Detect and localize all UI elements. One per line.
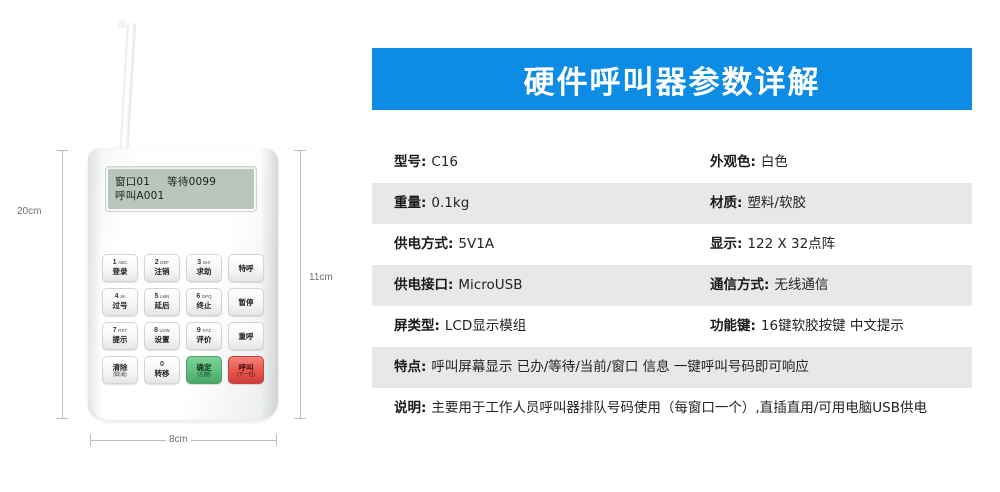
depth-dimension-tick-bottom bbox=[294, 418, 306, 419]
spec-cell: 外观色:白色 bbox=[702, 153, 972, 172]
spec-table: 型号:C16外观色:白色重量:0.1kg材质:塑料/软胶供电方式:5V1A显示:… bbox=[372, 142, 972, 429]
spec-label: 供电接口: bbox=[394, 276, 453, 295]
spec-value: 5V1A bbox=[458, 235, 494, 254]
spec-cell: 供电方式:5V1A bbox=[372, 235, 702, 254]
spec-cell: 显示:122 X 32点阵 bbox=[702, 235, 972, 254]
device-left-shading bbox=[88, 148, 102, 420]
spec-value: 无线通信 bbox=[774, 276, 828, 295]
spec-cell: 通信方式:无线通信 bbox=[702, 276, 972, 295]
spec-value: 呼叫屏幕显示 已办/等待/当前/窗口 信息 一键呼叫号码即可响应 bbox=[431, 358, 809, 377]
spec-cell: 型号:C16 bbox=[372, 153, 702, 172]
key-sub-label: (下一位) bbox=[237, 372, 255, 378]
lcd-waiting-label: 等待0099 bbox=[167, 176, 216, 188]
spec-label: 屏类型: bbox=[394, 317, 440, 336]
lcd-bezel: 窗口01等待0099 呼叫A001 bbox=[105, 166, 257, 212]
spec-value: 0.1kg bbox=[431, 194, 469, 213]
key-main-label: 注销 bbox=[155, 267, 170, 276]
height-dimension-tick-top bbox=[56, 150, 68, 151]
spec-cell: 功能键:16键软胶按键 中文提示 bbox=[702, 317, 972, 336]
spec-cell: 屏类型:LCD显示模组 bbox=[372, 317, 702, 336]
spec-value: 白色 bbox=[761, 153, 788, 172]
key-main-label: 提示 bbox=[113, 335, 128, 344]
key-暂停-7[interactable]: 暂停 bbox=[228, 288, 264, 316]
spec-cell: 说明:主要用于工作人员呼叫器排队号码使用（每窗口一个）,直插直用/可用电脑USB… bbox=[372, 399, 972, 418]
spec-value: 16键软胶按键 中文提示 bbox=[761, 317, 904, 336]
spec-label: 外观色: bbox=[710, 153, 756, 172]
key-main-label: 呼叫 bbox=[239, 363, 254, 372]
key-main-label: 确定 bbox=[197, 363, 212, 372]
spec-label: 功能键: bbox=[710, 317, 756, 336]
spec-value: 122 X 32点阵 bbox=[747, 235, 835, 254]
spec-cell: 重量:0.1kg bbox=[372, 194, 702, 213]
lcd-line-1: 窗口01等待0099 bbox=[115, 175, 247, 189]
keypad: 1 ABC登录2 DEF注销3 GHI求助特呼4 JK过号5 LMN延后6 OP… bbox=[102, 254, 264, 384]
spec-cell: 特点:呼叫屏幕显示 已办/等待/当前/窗口 信息 一键呼叫号码即可响应 bbox=[372, 358, 972, 377]
key-终止-6[interactable]: 6 OPQ终止 bbox=[186, 288, 222, 316]
key-确定-14[interactable]: 确定(左翻) bbox=[186, 356, 222, 384]
spec-pane: 硬件呼叫器参数详解 型号:C16外观色:白色重量:0.1kg材质:塑料/软胶供电… bbox=[372, 0, 972, 492]
lcd-screen: 窗口01等待0099 呼叫A001 bbox=[108, 169, 254, 209]
key-sub-label: (取消) bbox=[113, 372, 126, 378]
key-main-label: 过号 bbox=[113, 301, 128, 310]
spec-banner-title: 硬件呼叫器参数详解 bbox=[524, 57, 821, 102]
spec-value: 塑料/软胶 bbox=[747, 194, 806, 213]
spec-value: LCD显示模组 bbox=[445, 317, 526, 336]
key-重呼-11[interactable]: 重呼 bbox=[228, 322, 264, 350]
spec-label: 特点: bbox=[394, 358, 426, 377]
height-dimension-label: 20cm bbox=[14, 206, 44, 217]
key-注销-1[interactable]: 2 DEF注销 bbox=[144, 254, 180, 282]
key-main-label: 延后 bbox=[155, 301, 170, 310]
spec-value: 主要用于工作人员呼叫器排队号码使用（每窗口一个）,直插直用/可用电脑USB供电 bbox=[431, 399, 927, 418]
spec-value: C16 bbox=[431, 153, 458, 172]
height-dimension-tick-bottom bbox=[56, 418, 68, 419]
spec-row: 供电方式:5V1A显示:122 X 32点阵 bbox=[372, 224, 972, 265]
depth-dimension-line bbox=[300, 150, 301, 418]
spec-cell: 供电接口:MicroUSB bbox=[372, 276, 702, 295]
key-main-label: 清除 bbox=[113, 363, 128, 372]
spec-row: 特点:呼叫屏幕显示 已办/等待/当前/窗口 信息 一键呼叫号码即可响应 bbox=[372, 347, 972, 388]
key-转移-13[interactable]: 0转移 bbox=[144, 356, 180, 384]
spec-label: 型号: bbox=[394, 153, 426, 172]
depth-dimension-tick-top bbox=[294, 150, 306, 151]
spec-label: 显示: bbox=[710, 235, 742, 254]
key-main-label: 转移 bbox=[155, 369, 170, 378]
spec-label: 通信方式: bbox=[710, 276, 769, 295]
spec-label: 材质: bbox=[710, 194, 742, 213]
key-main-label: 设置 bbox=[155, 335, 170, 344]
depth-dimension-label: 11cm bbox=[306, 272, 336, 283]
key-过号-4[interactable]: 4 JK过号 bbox=[102, 288, 138, 316]
key-特呼-3[interactable]: 特呼 bbox=[228, 254, 264, 282]
key-main-label: 终止 bbox=[197, 301, 212, 310]
key-延后-5[interactable]: 5 LMN延后 bbox=[144, 288, 180, 316]
spec-label: 重量: bbox=[394, 194, 426, 213]
key-main-label: 登录 bbox=[113, 267, 128, 276]
key-求助-2[interactable]: 3 GHI求助 bbox=[186, 254, 222, 282]
width-dimension-tick-right bbox=[276, 434, 277, 446]
key-main-label: 暂停 bbox=[239, 298, 254, 307]
lcd-window-label: 窗口01 bbox=[115, 176, 150, 188]
spec-row: 供电接口:MicroUSB通信方式:无线通信 bbox=[372, 265, 972, 306]
product-image-pane: 窗口01等待0099 呼叫A001 1 ABC登录2 DEF注销3 GHI求助特… bbox=[0, 0, 355, 492]
key-设置-9[interactable]: 8 UVW设置 bbox=[144, 322, 180, 350]
spec-row: 说明:主要用于工作人员呼叫器排队号码使用（每窗口一个）,直插直用/可用电脑USB… bbox=[372, 388, 972, 429]
lcd-line-2: 呼叫A001 bbox=[115, 189, 247, 203]
spec-banner: 硬件呼叫器参数详解 bbox=[372, 48, 972, 110]
spec-label: 供电方式: bbox=[394, 235, 453, 254]
key-登录-0[interactable]: 1 ABC登录 bbox=[102, 254, 138, 282]
key-评价-10[interactable]: 9 XYZ评价 bbox=[186, 322, 222, 350]
key-main-label: 评价 bbox=[197, 335, 212, 344]
key-main-label: 求助 bbox=[197, 267, 212, 276]
caller-device: 窗口01等待0099 呼叫A001 1 ABC登录2 DEF注销3 GHI求助特… bbox=[88, 148, 278, 420]
product-spec-page: 窗口01等待0099 呼叫A001 1 ABC登录2 DEF注销3 GHI求助特… bbox=[0, 0, 1000, 492]
key-main-label: 特呼 bbox=[239, 264, 254, 273]
key-呼叫-15[interactable]: 呼叫(下一位) bbox=[228, 356, 264, 384]
height-dimension-line bbox=[62, 150, 63, 418]
key-main-label: 重呼 bbox=[239, 332, 254, 341]
spec-value: MicroUSB bbox=[458, 276, 522, 295]
key-清除-12[interactable]: 清除(取消) bbox=[102, 356, 138, 384]
width-dimension-label: 8cm bbox=[166, 434, 191, 445]
spec-row: 型号:C16外观色:白色 bbox=[372, 142, 972, 183]
spec-cell: 材质:塑料/软胶 bbox=[702, 194, 972, 213]
spec-row: 重量:0.1kg材质:塑料/软胶 bbox=[372, 183, 972, 224]
spec-label: 说明: bbox=[394, 399, 426, 418]
spec-row: 屏类型:LCD显示模组功能键:16键软胶按键 中文提示 bbox=[372, 306, 972, 347]
key-sub-label: (左翻) bbox=[197, 372, 210, 378]
key-提示-8[interactable]: 7 RST提示 bbox=[102, 322, 138, 350]
width-dimension-tick-left bbox=[90, 434, 91, 446]
